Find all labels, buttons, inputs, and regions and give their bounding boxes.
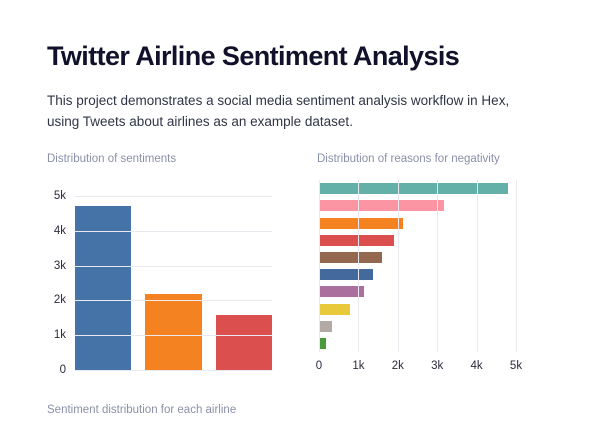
x-gridline: 5k: [516, 180, 517, 352]
horizontal-bar-row: [319, 249, 516, 266]
y-gridline: 2k: [75, 300, 272, 301]
y-gridline: 5k: [75, 196, 272, 197]
y-axis-tick-label: 2k: [54, 294, 66, 306]
horizontal-bar[interactable]: [319, 200, 444, 211]
horizontal-bar-row: [319, 180, 516, 197]
horizontal-bar[interactable]: [319, 252, 382, 263]
vertical-bar[interactable]: [145, 294, 201, 370]
horizontal-bar-row: [319, 214, 516, 231]
x-gridline: 4k: [477, 180, 478, 352]
x-gridline: 2k: [398, 180, 399, 352]
y-axis-tick-label: 0: [60, 364, 66, 376]
y-axis-tick-label: 5k: [54, 190, 66, 202]
horizontal-bar[interactable]: [319, 235, 394, 246]
horizontal-bar-row: [319, 283, 516, 300]
x-axis-tick-label: 5k: [510, 360, 522, 372]
sentiment-distribution-chart: 01k2k3k4k5k: [40, 175, 280, 380]
x-axis-tick-label: 0: [316, 360, 322, 372]
horizontal-bar[interactable]: [319, 321, 332, 332]
x-axis-tick-label: 3k: [431, 360, 443, 372]
horizontal-bar[interactable]: [319, 338, 326, 349]
chart-caption-airline-sentiment: Sentiment distribution for each airline: [47, 404, 236, 416]
chart-caption-negativity-reasons: Distribution of reasons for negativity: [317, 153, 500, 165]
y-axis-tick-label: 3k: [54, 260, 66, 272]
vertical-bar[interactable]: [216, 315, 272, 370]
page-description: This project demonstrates a social media…: [47, 90, 517, 132]
horizontal-bar-row: [319, 300, 516, 317]
y-gridline: 1k: [75, 335, 272, 336]
x-axis-tick-label: 4k: [471, 360, 483, 372]
y-gridline: 0: [75, 370, 272, 371]
x-gridline: 3k: [437, 180, 438, 352]
horizontal-bar-row: [319, 266, 516, 283]
horizontal-bar-group: [319, 180, 516, 352]
y-gridline: 4k: [75, 231, 272, 232]
page-title: Twitter Airline Sentiment Analysis: [47, 40, 459, 72]
horizontal-bar[interactable]: [319, 218, 403, 229]
x-axis-tick-label: 1k: [352, 360, 364, 372]
horizontal-plot-area: 01k2k3k4k5k: [319, 180, 516, 352]
horizontal-bar-row: [319, 318, 516, 335]
report-page: Twitter Airline Sentiment Analysis This …: [0, 0, 600, 436]
y-gridline: 3k: [75, 266, 272, 267]
horizontal-bar[interactable]: [319, 304, 350, 315]
horizontal-bar[interactable]: [319, 269, 373, 280]
horizontal-bar[interactable]: [319, 183, 508, 194]
horizontal-bar-row: [319, 197, 516, 214]
horizontal-bar-row: [319, 232, 516, 249]
x-gridline: 1k: [358, 180, 359, 352]
vertical-bar-group: [75, 196, 272, 370]
horizontal-bar-row: [319, 335, 516, 352]
y-axis-tick-label: 1k: [54, 329, 66, 341]
chart-caption-sentiments: Distribution of sentiments: [47, 153, 176, 165]
x-axis-tick-label: 2k: [392, 360, 404, 372]
negativity-reasons-chart: 01k2k3k4k5k: [300, 175, 560, 380]
y-axis-tick-label: 4k: [54, 225, 66, 237]
x-gridline: 0: [319, 180, 320, 352]
vertical-plot-area: 01k2k3k4k5k: [75, 196, 272, 370]
